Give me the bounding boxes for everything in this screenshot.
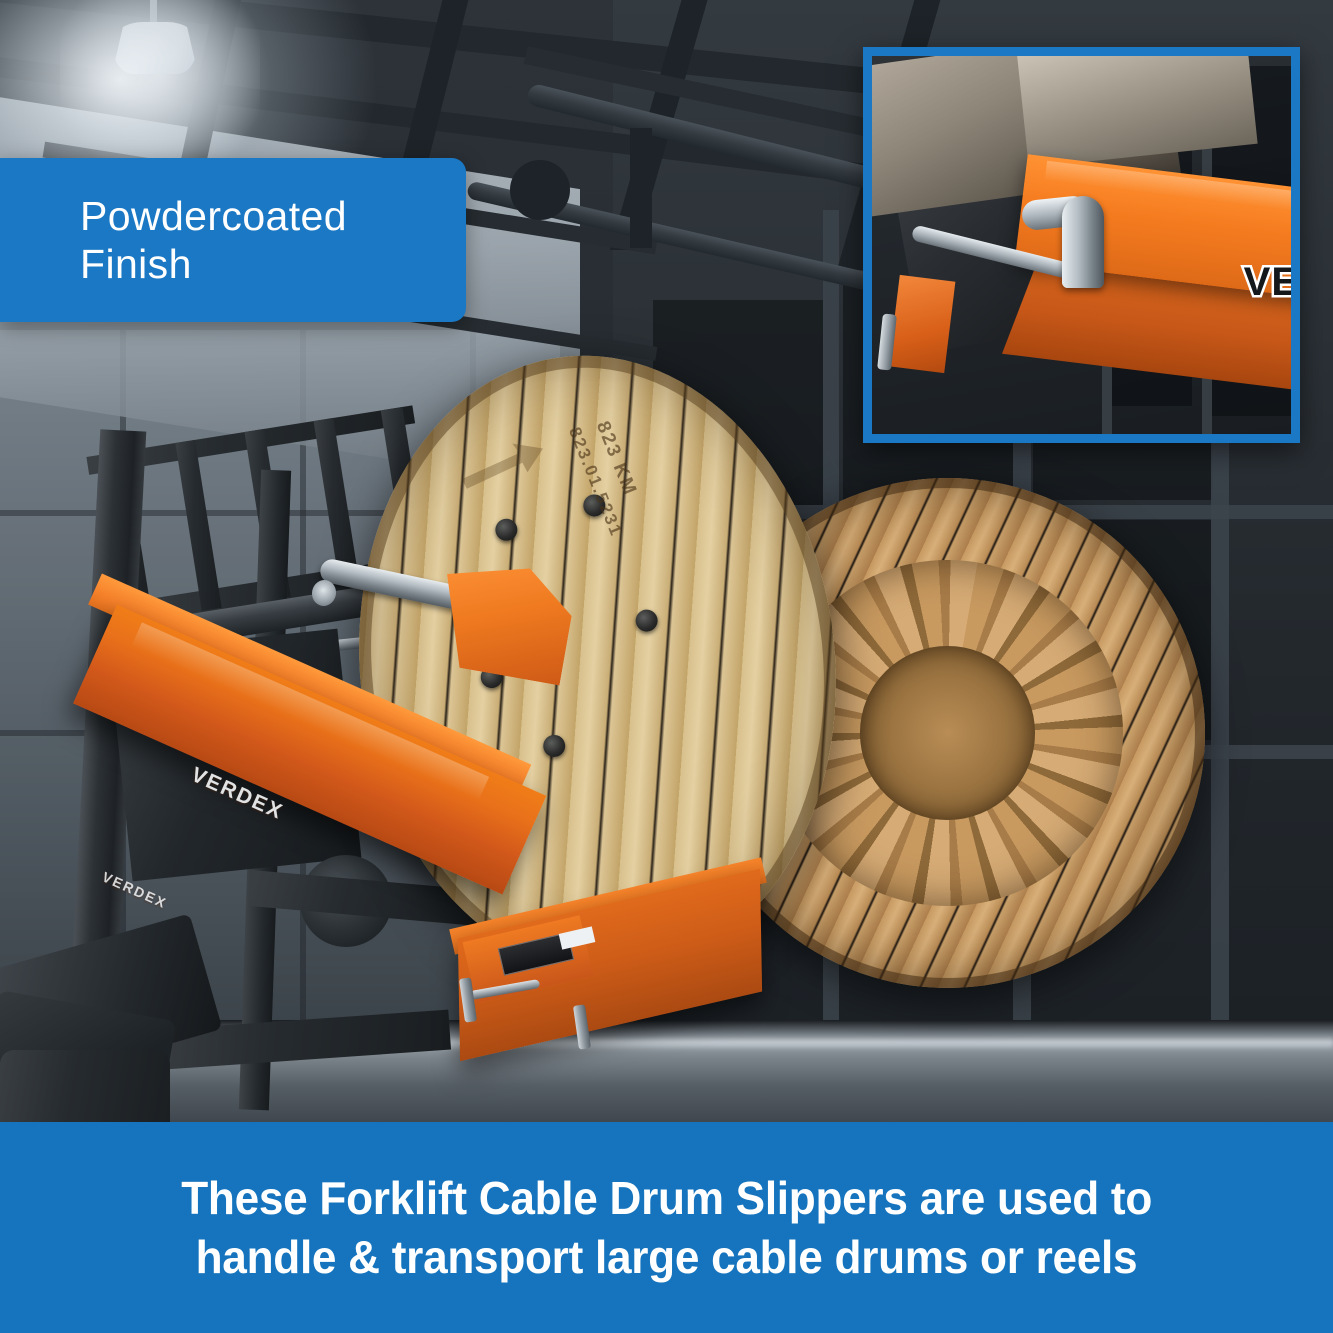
- inset-brand-logo: VE: [1244, 260, 1299, 305]
- caption-line-1: These Forklift Cable Drum Slippers are u…: [181, 1171, 1152, 1225]
- feature-callout-badge: Powdercoated Finish: [0, 158, 466, 322]
- badge-line-1: Powdercoated: [80, 192, 466, 240]
- detail-closeup-inset: VE: [863, 47, 1300, 443]
- inset-retaining-pin: [1062, 196, 1104, 288]
- drum-direction-arrow: [456, 434, 551, 495]
- caption-line-2: handle & transport large cable drums or …: [196, 1230, 1138, 1284]
- bottom-caption-banner: These Forklift Cable Drum Slippers are u…: [0, 1122, 1333, 1333]
- product-marketing-image: 823 KM 823.01.5231 5231/4022 VERDEX VERD…: [0, 0, 1333, 1333]
- inset-slipper-bracket: [889, 275, 956, 373]
- badge-line-2: Finish: [80, 240, 466, 288]
